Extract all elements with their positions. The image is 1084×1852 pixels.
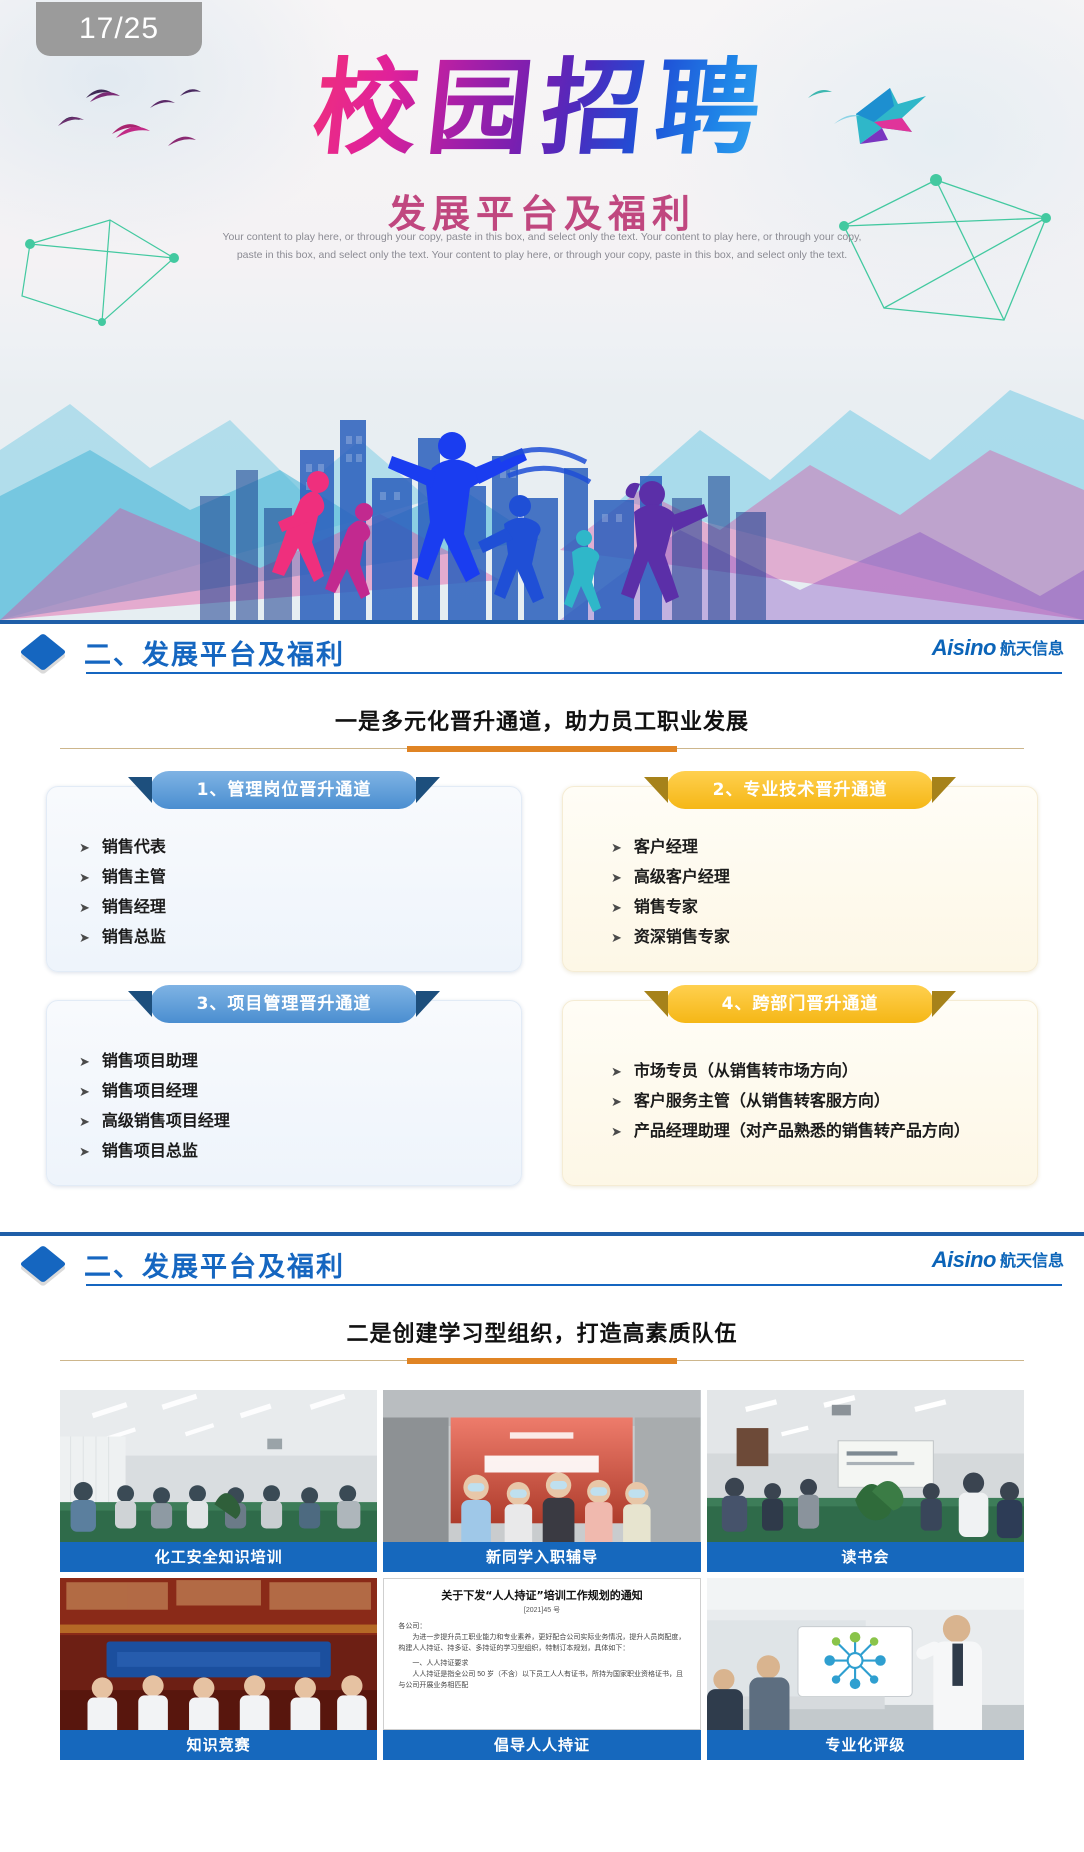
photo-caption-6: 专业化评级 [707, 1730, 1024, 1760]
cover-slide: 17/25 [0, 0, 1084, 620]
list-item-label: 销售项目助理 [102, 1047, 198, 1075]
list-item: ➤资深销售专家 [611, 923, 1027, 953]
logo-text-en: Aisino [932, 635, 996, 661]
document-line: 为进一步提升员工职业能力和专业素养，更好配合公司实际业务情况，提升人员岗配度，构… [398, 1632, 685, 1654]
slide1-bottom-gap [0, 1186, 1084, 1232]
career-path-cards: 1、管理岗位晋升通道 ➤销售代表 ➤销售主管 ➤销售经理 ➤销售总监 2、专业技… [46, 786, 1038, 1186]
ribbon-tail-left [644, 777, 668, 803]
career-card-1: 1、管理岗位晋升通道 ➤销售代表 ➤销售主管 ➤销售经理 ➤销售总监 [46, 786, 522, 972]
ribbon-tail-left [128, 777, 152, 803]
chevron-right-icon: ➤ [611, 1059, 622, 1087]
photo-card-3[interactable]: 读书会 [707, 1390, 1024, 1572]
career-card-4-ribbon: 4、跨部门晋升通道 [666, 985, 934, 1023]
chevron-right-icon: ➤ [79, 835, 90, 863]
career-card-3-ribbon: 3、项目管理晋升通道 [150, 985, 418, 1023]
career-card-3: 3、项目管理晋升通道 ➤销售项目助理 ➤销售项目经理 ➤高级销售项目经理 ➤销售… [46, 1000, 522, 1186]
document-line: 一、人人持证要求 [398, 1658, 685, 1669]
career-card-4-title: 4、跨部门晋升通道 [722, 994, 879, 1014]
list-item-label: 资深销售专家 [634, 923, 730, 951]
section-header-2: 二、发展平台及福利 Aisino 航天信息 [14, 1236, 1070, 1292]
career-card-3-title: 3、项目管理晋升通道 [197, 994, 372, 1014]
list-item-label: 客户经理 [634, 833, 698, 861]
section-header: 二、发展平台及福利 Aisino 航天信息 [14, 624, 1070, 680]
slide2-headline-rules [60, 1358, 1024, 1364]
document-body: 关于下发“人人持证”培训工作规划的通知 [2021]45 号 各公司： 为进一步… [384, 1579, 699, 1699]
cover-title-text: 校园招聘 [308, 50, 776, 166]
list-item: ➤产品经理助理（对产品熟悉的销售转产品方向） [611, 1117, 1027, 1147]
list-item: ➤销售代表 [79, 833, 511, 863]
chevron-right-icon: ➤ [611, 835, 622, 863]
list-item: ➤市场专员（从销售转市场方向） [611, 1057, 1027, 1087]
photo-card-1[interactable]: 化工安全知识培训 [60, 1390, 377, 1572]
list-item-label: 销售代表 [102, 833, 166, 861]
page-indicator-badge: 17/25 [36, 2, 202, 56]
career-card-2-title: 2、专业技术晋升通道 [713, 780, 888, 800]
chevron-right-icon: ➤ [79, 1079, 90, 1107]
slide1-headline-rules [60, 746, 1024, 752]
list-item-label: 产品经理助理（对产品熟悉的销售转产品方向） [634, 1117, 970, 1145]
list-item: ➤销售总监 [79, 923, 511, 953]
list-item: ➤销售项目助理 [79, 1047, 511, 1077]
photo-gallery: 化工安全知识培训 [60, 1390, 1024, 1760]
career-card-1-title: 1、管理岗位晋升通道 [197, 780, 372, 800]
ribbon-tail-left [644, 991, 668, 1017]
section-title: 二、发展平台及福利 [84, 633, 345, 672]
career-card-2-list: ➤客户经理 ➤高级客户经理 ➤销售专家 ➤资深销售专家 [595, 833, 1027, 953]
photo-caption-5: 倡导人人持证 [383, 1730, 700, 1760]
ribbon-tail-left [128, 991, 152, 1017]
photo-image-meeting [707, 1390, 1024, 1542]
cover-paragraph: Your content to play here, or through yo… [212, 228, 872, 264]
ribbon-tail-right [932, 777, 956, 803]
list-item-label: 高级销售项目经理 [102, 1107, 230, 1135]
list-item: ➤客户经理 [611, 833, 1027, 863]
photo-image-document: 关于下发“人人持证”培训工作规划的通知 [2021]45 号 各公司： 为进一步… [383, 1578, 700, 1730]
ribbon-tail-right [932, 991, 956, 1017]
list-item: ➤销售项目总监 [79, 1137, 511, 1167]
photo-caption-1: 化工安全知识培训 [60, 1542, 377, 1572]
list-item-label: 高级客户经理 [634, 863, 730, 891]
list-item-label: 销售项目总监 [102, 1137, 198, 1165]
logo-text-en: Aisino [932, 1247, 996, 1273]
photo-image-office [707, 1578, 1024, 1730]
career-card-3-list: ➤销售项目助理 ➤销售项目经理 ➤高级销售项目经理 ➤销售项目总监 [79, 1047, 511, 1167]
photo-image-classroom [60, 1390, 377, 1542]
chevron-right-icon: ➤ [611, 865, 622, 893]
list-item: ➤客户服务主管（从销售转客服方向） [611, 1087, 1027, 1117]
photo-caption-2: 新同学入职辅导 [383, 1542, 700, 1572]
list-item: ➤销售项目经理 [79, 1077, 511, 1107]
ribbon-tail-right [416, 991, 440, 1017]
document-line: 人人持证是指全公司 50 岁（不含）以下员工人人有证书，所持为国家职业资格证书，… [398, 1669, 685, 1691]
list-item-label: 客户服务主管（从销售转客服方向） [634, 1087, 890, 1115]
career-card-2-ribbon: 2、专业技术晋升通道 [666, 771, 934, 809]
aisino-logo-2: Aisino 航天信息 [932, 1247, 1070, 1281]
chevron-right-icon: ➤ [611, 895, 622, 923]
diamond-icon [20, 1245, 67, 1283]
list-item-label: 市场专员（从销售转市场方向） [634, 1057, 858, 1085]
chevron-right-icon: ➤ [79, 1139, 90, 1167]
photo-card-6[interactable]: 专业化评级 [707, 1578, 1024, 1760]
logo-text-cn: 航天信息 [1000, 1247, 1064, 1273]
list-item-label: 销售项目经理 [102, 1077, 198, 1105]
document-title: 关于下发“人人持证”培训工作规划的通知 [398, 1587, 685, 1603]
headline-thick-rule [407, 746, 677, 752]
list-item-label: 销售主管 [102, 863, 166, 891]
document-line: 各公司： [398, 1621, 685, 1632]
list-item: ➤销售专家 [611, 893, 1027, 923]
list-item-label: 销售总监 [102, 923, 166, 951]
photo-image-orientation [383, 1390, 700, 1542]
photo-card-4[interactable]: 知识竞赛 [60, 1578, 377, 1760]
cover-title: 校园招聘 [0, 50, 1084, 166]
learning-organization-slide: 二、发展平台及福利 Aisino 航天信息 二是创建学习型组织，打造高素质队伍 [0, 1236, 1084, 1760]
list-item: ➤销售主管 [79, 863, 511, 893]
aisino-logo: Aisino 航天信息 [932, 635, 1070, 669]
career-card-2: 2、专业技术晋升通道 ➤客户经理 ➤高级客户经理 ➤销售专家 ➤资深销售专家 [562, 786, 1038, 972]
chevron-right-icon: ➤ [79, 865, 90, 893]
slide1-headline: 一是多元化晋升通道，助力员工职业发展 [335, 704, 749, 736]
list-item: ➤销售经理 [79, 893, 511, 923]
career-card-4: 4、跨部门晋升通道 ➤市场专员（从销售转市场方向） ➤客户服务主管（从销售转客服… [562, 1000, 1038, 1186]
ribbon-tail-right [416, 777, 440, 803]
slide2-headline-wrap: 二是创建学习型组织，打造高素质队伍 [0, 1316, 1084, 1348]
chevron-right-icon: ➤ [611, 925, 622, 953]
chevron-right-icon: ➤ [611, 1089, 622, 1117]
slide1-headline-wrap: 一是多元化晋升通道，助力员工职业发展 [0, 704, 1084, 736]
document-number: [2021]45 号 [398, 1605, 685, 1615]
logo-text-cn: 航天信息 [1000, 635, 1064, 661]
photo-card-2[interactable]: 新同学入职辅导 [383, 1390, 700, 1572]
photo-card-5[interactable]: 关于下发“人人持证”培训工作规划的通知 [2021]45 号 各公司： 为进一步… [383, 1578, 700, 1760]
diamond-icon [20, 633, 67, 671]
section-underline-2 [86, 1284, 1062, 1286]
chevron-right-icon: ➤ [611, 1119, 622, 1147]
section-underline [86, 672, 1062, 674]
chevron-right-icon: ➤ [79, 1049, 90, 1077]
chevron-right-icon: ➤ [79, 895, 90, 923]
career-card-1-list: ➤销售代表 ➤销售主管 ➤销售经理 ➤销售总监 [79, 833, 511, 953]
chevron-right-icon: ➤ [79, 1109, 90, 1137]
chevron-right-icon: ➤ [79, 925, 90, 953]
career-card-4-list: ➤市场专员（从销售转市场方向） ➤客户服务主管（从销售转客服方向） ➤产品经理助… [595, 1057, 1027, 1147]
career-card-1-ribbon: 1、管理岗位晋升通道 [150, 771, 418, 809]
promotion-channels-slide: 二、发展平台及福利 Aisino 航天信息 一是多元化晋升通道，助力员工职业发展… [0, 624, 1084, 1232]
list-item: ➤高级客户经理 [611, 863, 1027, 893]
slide2-headline: 二是创建学习型组织，打造高素质队伍 [346, 1316, 737, 1348]
list-item: ➤高级销售项目经理 [79, 1107, 511, 1137]
section-title-2: 二、发展平台及福利 [84, 1245, 345, 1284]
photo-caption-3: 读书会 [707, 1542, 1024, 1572]
list-item-label: 销售专家 [634, 893, 698, 921]
photo-image-contest [60, 1578, 377, 1730]
photo-caption-4: 知识竞赛 [60, 1730, 377, 1760]
headline-thick-rule [407, 1358, 677, 1364]
cover-illustration-band [0, 300, 1084, 620]
list-item-label: 销售经理 [102, 893, 166, 921]
